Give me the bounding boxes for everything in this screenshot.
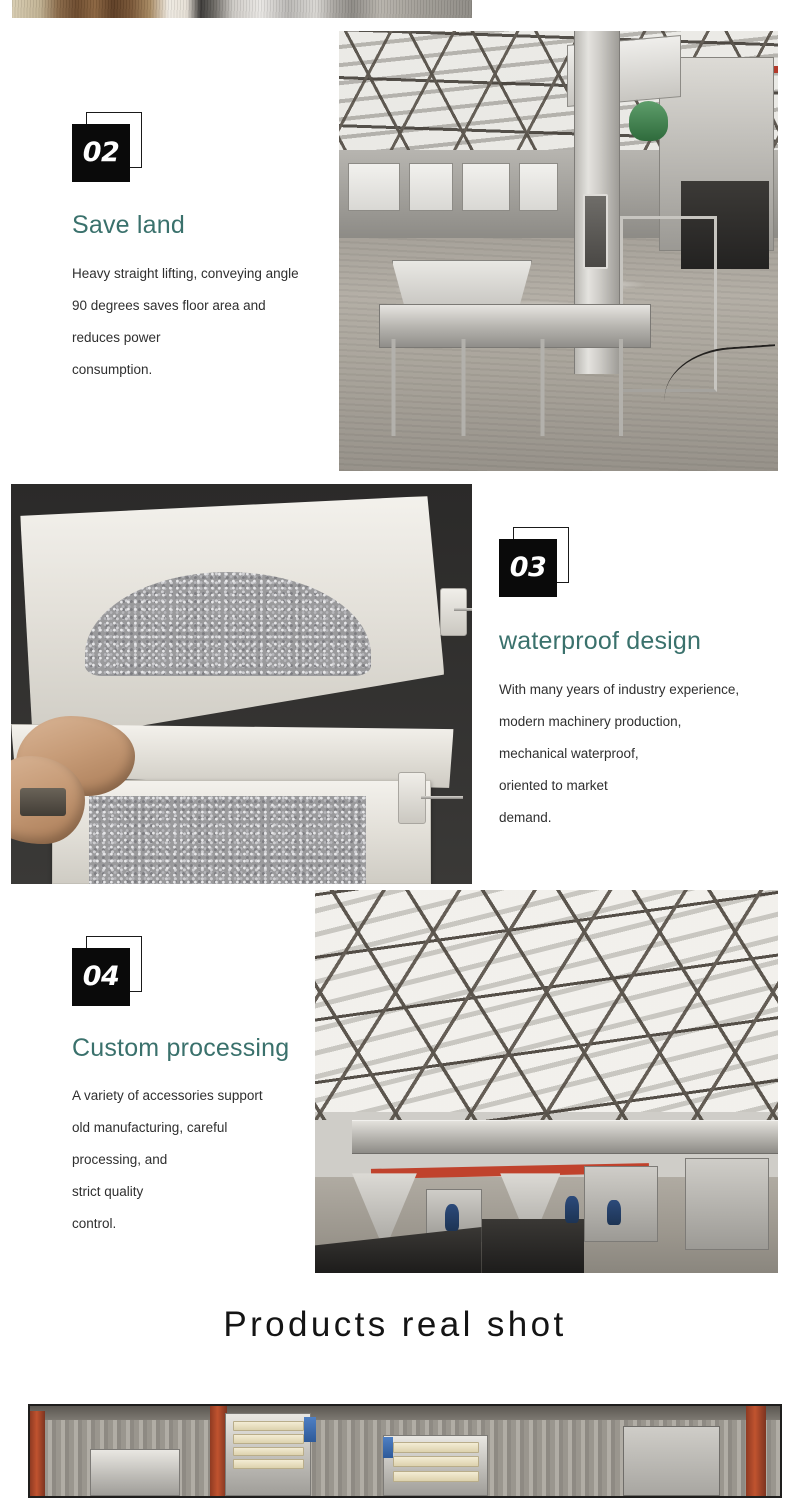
- feature-03-body-line: mechanical waterproof,: [499, 738, 779, 770]
- feature-02-body-line: Heavy straight lifting, conveying angle: [72, 258, 347, 290]
- feature-04-body-line: old manufacturing, careful: [72, 1112, 332, 1144]
- feature-03-number: 03: [510, 554, 547, 581]
- product-feature-page: 02 Save land Heavy straight lifting, con…: [0, 0, 790, 1494]
- feature-02-body-line: consumption.: [72, 354, 347, 386]
- feature-04-badge: 04: [72, 936, 158, 1016]
- feature-03-body-line: With many years of industry experience,: [499, 674, 779, 706]
- feature-02-photo: [339, 31, 778, 471]
- feature-04-body-line: A variety of accessories support: [72, 1080, 332, 1112]
- feature-04-body-line: control.: [72, 1208, 332, 1240]
- products-real-shot-photo: [28, 1404, 782, 1498]
- feature-03-body-line: oriented to market: [499, 770, 779, 802]
- badge-solid-square: 04: [72, 948, 130, 1006]
- feature-03-title: waterproof design: [499, 626, 701, 656]
- feature-02-badge: 02: [72, 112, 158, 192]
- feature-02-body: Heavy straight lifting, conveying angle …: [72, 258, 347, 386]
- feature-02-body-line: reduces power: [72, 322, 347, 354]
- feature-04-photo: [315, 890, 778, 1273]
- feature-03-body: With many years of industry experience, …: [499, 674, 779, 834]
- top-strip-photo: [12, 0, 472, 18]
- feature-04-body-line: strict quality: [72, 1176, 332, 1208]
- feature-03-body-line: demand.: [499, 802, 779, 834]
- feature-04-body-line: processing, and: [72, 1144, 332, 1176]
- feature-02-title: Save land: [72, 210, 185, 240]
- badge-solid-square: 02: [72, 124, 130, 182]
- feature-04-number: 04: [83, 963, 120, 990]
- feature-04-title: Custom processing: [72, 1033, 289, 1063]
- badge-solid-square: 03: [499, 539, 557, 597]
- products-real-shot-heading: Products real shot: [0, 1303, 790, 1347]
- feature-03-badge: 03: [499, 527, 585, 607]
- feature-02-body-line: 90 degrees saves floor area and: [72, 290, 347, 322]
- feature-04-body: A variety of accessories support old man…: [72, 1080, 332, 1240]
- feature-02-number: 02: [83, 139, 120, 166]
- feature-03-photo: [11, 484, 472, 884]
- feature-03-body-line: modern machinery production,: [499, 706, 779, 738]
